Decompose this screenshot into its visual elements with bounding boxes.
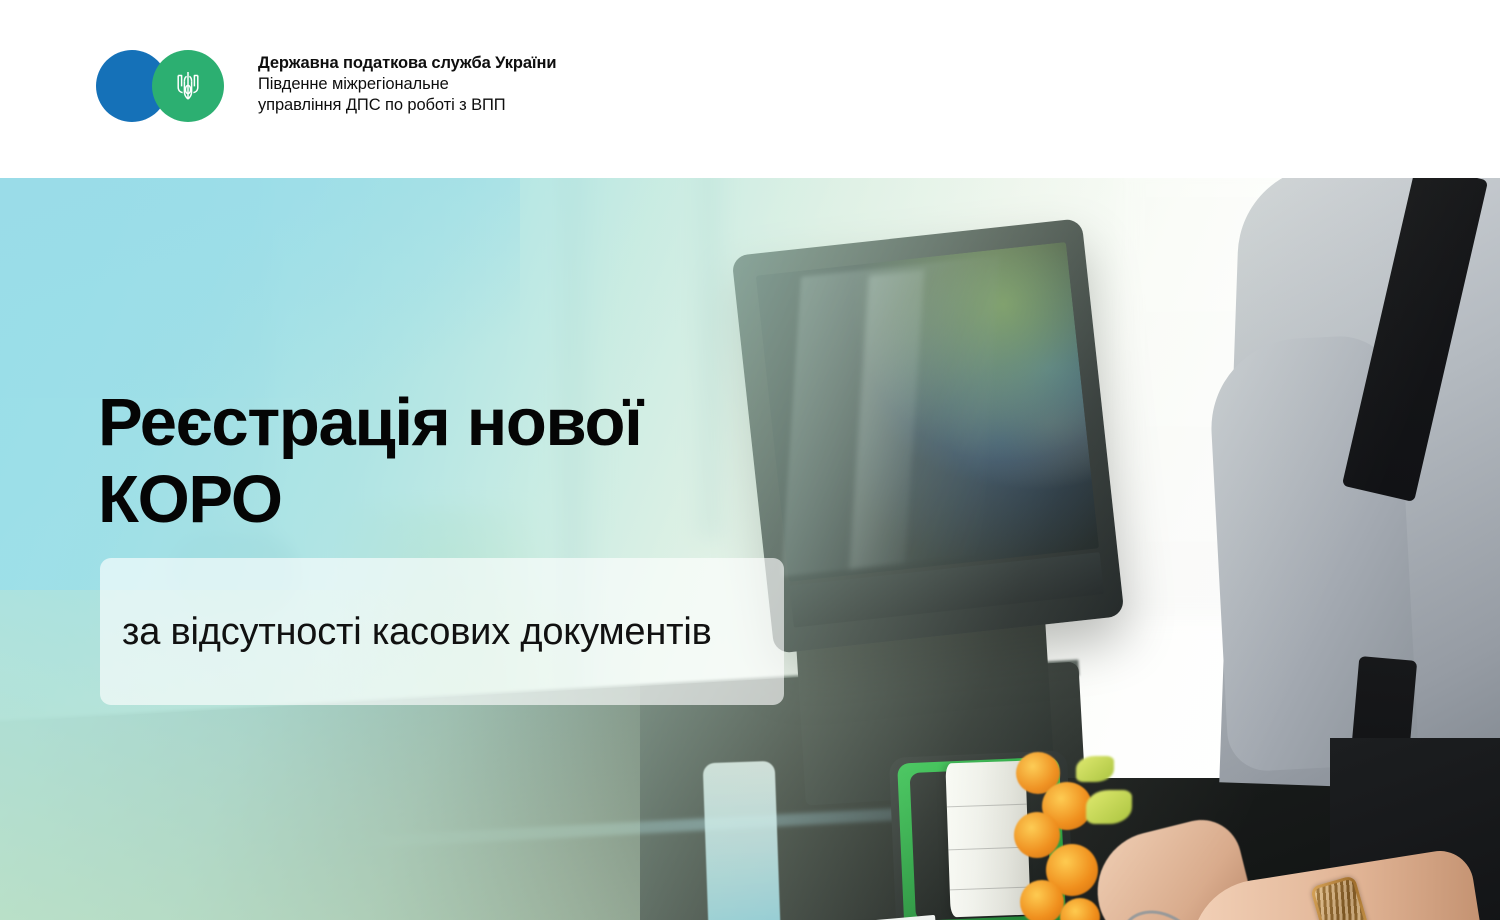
hero-headline: Реєстрація нової КОРО <box>98 384 758 538</box>
organization-name: Державна податкова служба України Півден… <box>258 50 556 116</box>
hero-subtitle-panel: за відсутності касових документів <box>100 558 784 705</box>
ukraine-trident-icon <box>172 68 204 104</box>
organization-branding: Державна податкова служба України Півден… <box>96 50 556 122</box>
hero-text-block: Реєстрація нової КОРО за відсутності кас… <box>0 178 1500 920</box>
dps-logo <box>96 50 216 122</box>
site-header: Державна податкова служба України Півден… <box>0 0 1500 178</box>
org-line-3: управління ДПС по роботі з ВПП <box>258 95 556 116</box>
green-circle-icon <box>152 50 224 122</box>
poster-page: Державна податкова служба України Півден… <box>0 0 1500 920</box>
hero-banner: Реєстрація нової КОРО за відсутності кас… <box>0 178 1500 920</box>
org-line-1: Державна податкова служба України <box>258 53 556 74</box>
hero-subtitle: за відсутності касових документів <box>100 607 734 657</box>
org-line-2: Південне міжрегіональне <box>258 74 556 95</box>
